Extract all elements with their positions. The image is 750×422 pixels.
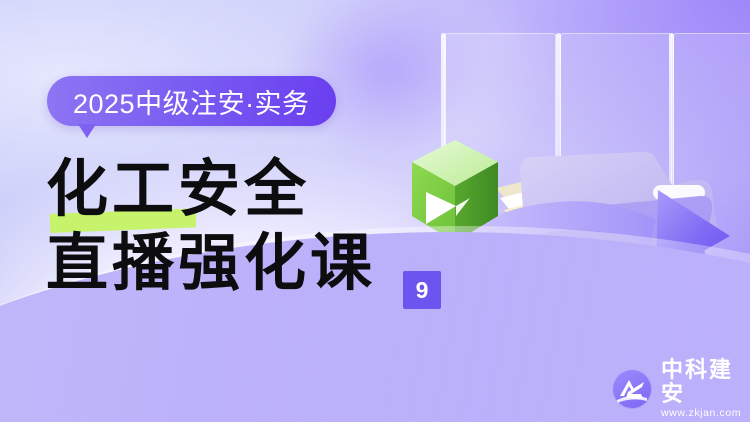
course-tag-pill: 2025中级注安·实务 — [47, 76, 336, 126]
headline-line-1-row: 化工安全 — [46, 152, 466, 226]
headline-line-1: 化工安全 — [46, 152, 466, 226]
course-tag-label: 2025中级注安·实务 — [73, 82, 310, 121]
course-banner: 2025中级注安·实务 化工安全 直播强化课 9 中科建安 www.zkjan.… — [0, 0, 750, 422]
episode-number-badge: 9 — [403, 271, 441, 309]
brand-name: 中科建安 — [661, 358, 750, 406]
brand-logo[interactable]: 中科建安 www.zkjan.com — [612, 358, 750, 420]
brand-url: www.zkjan.com — [661, 406, 750, 420]
mountain-arrow-icon — [612, 369, 652, 409]
brand-logo-words: 中科建安 www.zkjan.com — [661, 358, 750, 420]
episode-number: 9 — [416, 279, 429, 302]
headline-line-2: 直播强化课 — [46, 226, 376, 300]
course-tag-tail — [78, 124, 96, 138]
